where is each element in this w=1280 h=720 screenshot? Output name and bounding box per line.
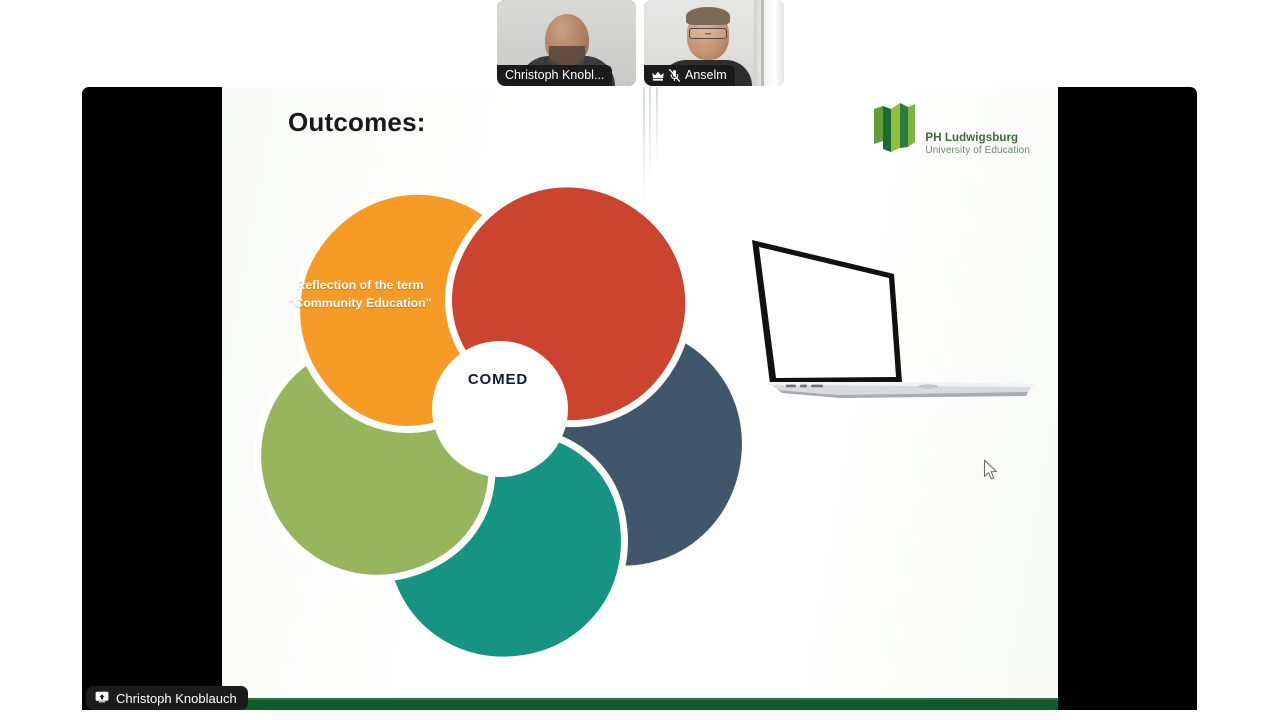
participant-name-chip-anselm: Anselm (644, 65, 735, 86)
logo-line-primary: PH Ludwigsburg (925, 132, 1030, 145)
screen-share-icon (95, 691, 109, 706)
participant-name-label: Anselm (685, 65, 727, 86)
comed-pinwheel-diagram: COMED Reflection of the term "Community … (228, 157, 768, 667)
render-artifact-line (656, 87, 658, 165)
avatar-glasses (689, 28, 727, 39)
participant-name-chip-christoph: Christoph Knobl... (497, 65, 612, 86)
slide-accent-bar (222, 698, 1058, 710)
mouse-cursor (983, 459, 1001, 483)
participant-name-label: Christoph Knobl... (505, 65, 604, 86)
presenter-name-label: Christoph Knoblauch (116, 691, 237, 706)
host-crown-icon (652, 71, 664, 81)
participant-tile-christoph[interactable]: Christoph Knobl... (497, 0, 636, 86)
pinwheel-center-hub (432, 341, 568, 477)
logo-line-secondary: University of Education (925, 145, 1030, 156)
presenter-name-chip: Christoph Knoblauch (86, 686, 248, 710)
window-light (754, 0, 784, 86)
participant-tile-anselm[interactable]: Anselm (644, 0, 784, 86)
ph-ludwigsburg-logo: PH Ludwigsburg University of Education (870, 101, 1030, 158)
mic-muted-icon (669, 69, 680, 82)
window-frame (761, 0, 764, 86)
participant-filmstrip: Christoph Knobl... (497, 0, 784, 86)
video-call-window: Christoph Knobl... (0, 0, 1280, 720)
ph-ludwigsburg-logo-text: PH Ludwigsburg University of Education (925, 132, 1030, 158)
shared-screen-stage[interactable]: Outcomes: PH Ludwigsburg University of E… (82, 87, 1197, 710)
avatar-hair (686, 7, 730, 25)
ph-ludwigsburg-mark-icon (870, 101, 918, 158)
macbook-illustration (742, 232, 1042, 412)
presentation-slide: Outcomes: PH Ludwigsburg University of E… (222, 87, 1058, 710)
slide-title: Outcomes: (288, 107, 426, 138)
